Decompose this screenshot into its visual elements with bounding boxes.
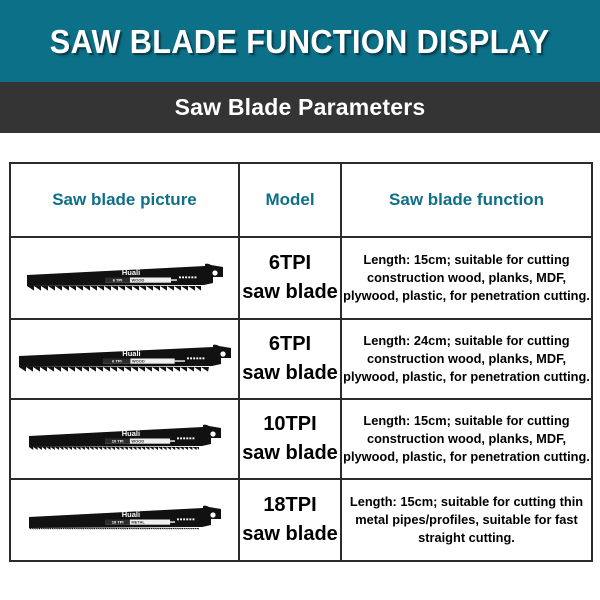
- column-header-model-label: Model: [265, 190, 314, 209]
- table-row: Huali18 TPIMETAL 18TPI saw blade Length:…: [10, 479, 592, 561]
- saw-blade-icon: Huali10 TPIWOOD: [27, 419, 223, 459]
- saw-blade-icon: Huali6 TPIWOOD: [17, 339, 233, 379]
- svg-text:WOOD: WOOD: [131, 439, 144, 444]
- blade-picture-cell: Huali6 TPIWOOD: [10, 319, 239, 399]
- model-cell: 18TPI saw blade: [239, 479, 341, 561]
- svg-text:Huali: Huali: [121, 268, 139, 277]
- column-header-function: Saw blade function: [341, 163, 592, 237]
- saw-blade-image: Huali6 TPIWOOD: [11, 323, 238, 395]
- svg-text:WOOD: WOOD: [131, 359, 144, 364]
- banner: SAW BLADE FUNCTION DISPLAY: [0, 0, 600, 82]
- table-row: Huali10 TPIWOOD 10TPI saw blade Length: …: [10, 399, 592, 479]
- saw-blade-image: Huali18 TPIMETAL: [11, 484, 238, 556]
- svg-text:10 TPI: 10 TPI: [111, 439, 123, 444]
- table-row: Huali6 TPIWOOD 6TPI saw blade Length: 15…: [10, 237, 592, 319]
- model-suffix: saw blade: [240, 278, 340, 307]
- model-tpi: 6TPI: [240, 330, 340, 359]
- product-info-graphic: SAW BLADE FUNCTION DISPLAY Saw Blade Par…: [0, 0, 600, 600]
- saw-blade-icon: Huali18 TPIMETAL: [27, 500, 223, 540]
- column-header-function-label: Saw blade function: [389, 190, 544, 209]
- blade-picture-cell: Huali18 TPIMETAL: [10, 479, 239, 561]
- svg-text:18 TPI: 18 TPI: [111, 520, 123, 525]
- svg-text:Huali: Huali: [122, 349, 140, 358]
- section-subheader-title: Saw Blade Parameters: [175, 96, 426, 119]
- model-suffix: saw blade: [240, 439, 340, 468]
- model-tpi: 10TPI: [240, 410, 340, 439]
- model-tpi: 18TPI: [240, 491, 340, 520]
- model-suffix: saw blade: [240, 520, 340, 549]
- svg-text:METAL: METAL: [131, 520, 145, 525]
- svg-text:6 TPI: 6 TPI: [112, 278, 122, 283]
- saw-blade-icon: Huali6 TPIWOOD: [25, 258, 225, 298]
- spec-table: Saw blade picture Model Saw blade functi…: [9, 162, 593, 562]
- model-cell: 6TPI saw blade: [239, 319, 341, 399]
- blade-picture-cell: Huali10 TPIWOOD: [10, 399, 239, 479]
- model-cell: 6TPI saw blade: [239, 237, 341, 319]
- function-cell: Length: 15cm; suitable for cutting const…: [341, 399, 592, 479]
- column-header-picture-label: Saw blade picture: [52, 190, 197, 209]
- saw-blade-image: Huali10 TPIWOOD: [11, 403, 238, 475]
- column-header-model: Model: [239, 163, 341, 237]
- function-cell: Length: 15cm; suitable for cutting const…: [341, 237, 592, 319]
- model-cell: 10TPI saw blade: [239, 399, 341, 479]
- model-suffix: saw blade: [240, 359, 340, 388]
- svg-text:6 TPI: 6 TPI: [112, 359, 122, 364]
- function-cell: Length: 15cm; suitable for cutting thin …: [341, 479, 592, 561]
- spec-table-wrapper: Saw blade picture Model Saw blade functi…: [9, 162, 591, 555]
- blade-picture-cell: Huali6 TPIWOOD: [10, 237, 239, 319]
- column-header-picture: Saw blade picture: [10, 163, 239, 237]
- svg-text:Huali: Huali: [121, 510, 139, 519]
- table-header-row: Saw blade picture Model Saw blade functi…: [10, 163, 592, 237]
- section-subheader: Saw Blade Parameters: [0, 82, 600, 133]
- svg-text:Huali: Huali: [121, 429, 139, 438]
- table-row: Huali6 TPIWOOD 6TPI saw blade Length: 24…: [10, 319, 592, 399]
- function-cell: Length: 24cm; suitable for cutting const…: [341, 319, 592, 399]
- banner-title: SAW BLADE FUNCTION DISPLAY: [50, 25, 550, 58]
- model-tpi: 6TPI: [240, 249, 340, 278]
- saw-blade-image: Huali6 TPIWOOD: [11, 242, 238, 314]
- svg-text:WOOD: WOOD: [131, 278, 144, 283]
